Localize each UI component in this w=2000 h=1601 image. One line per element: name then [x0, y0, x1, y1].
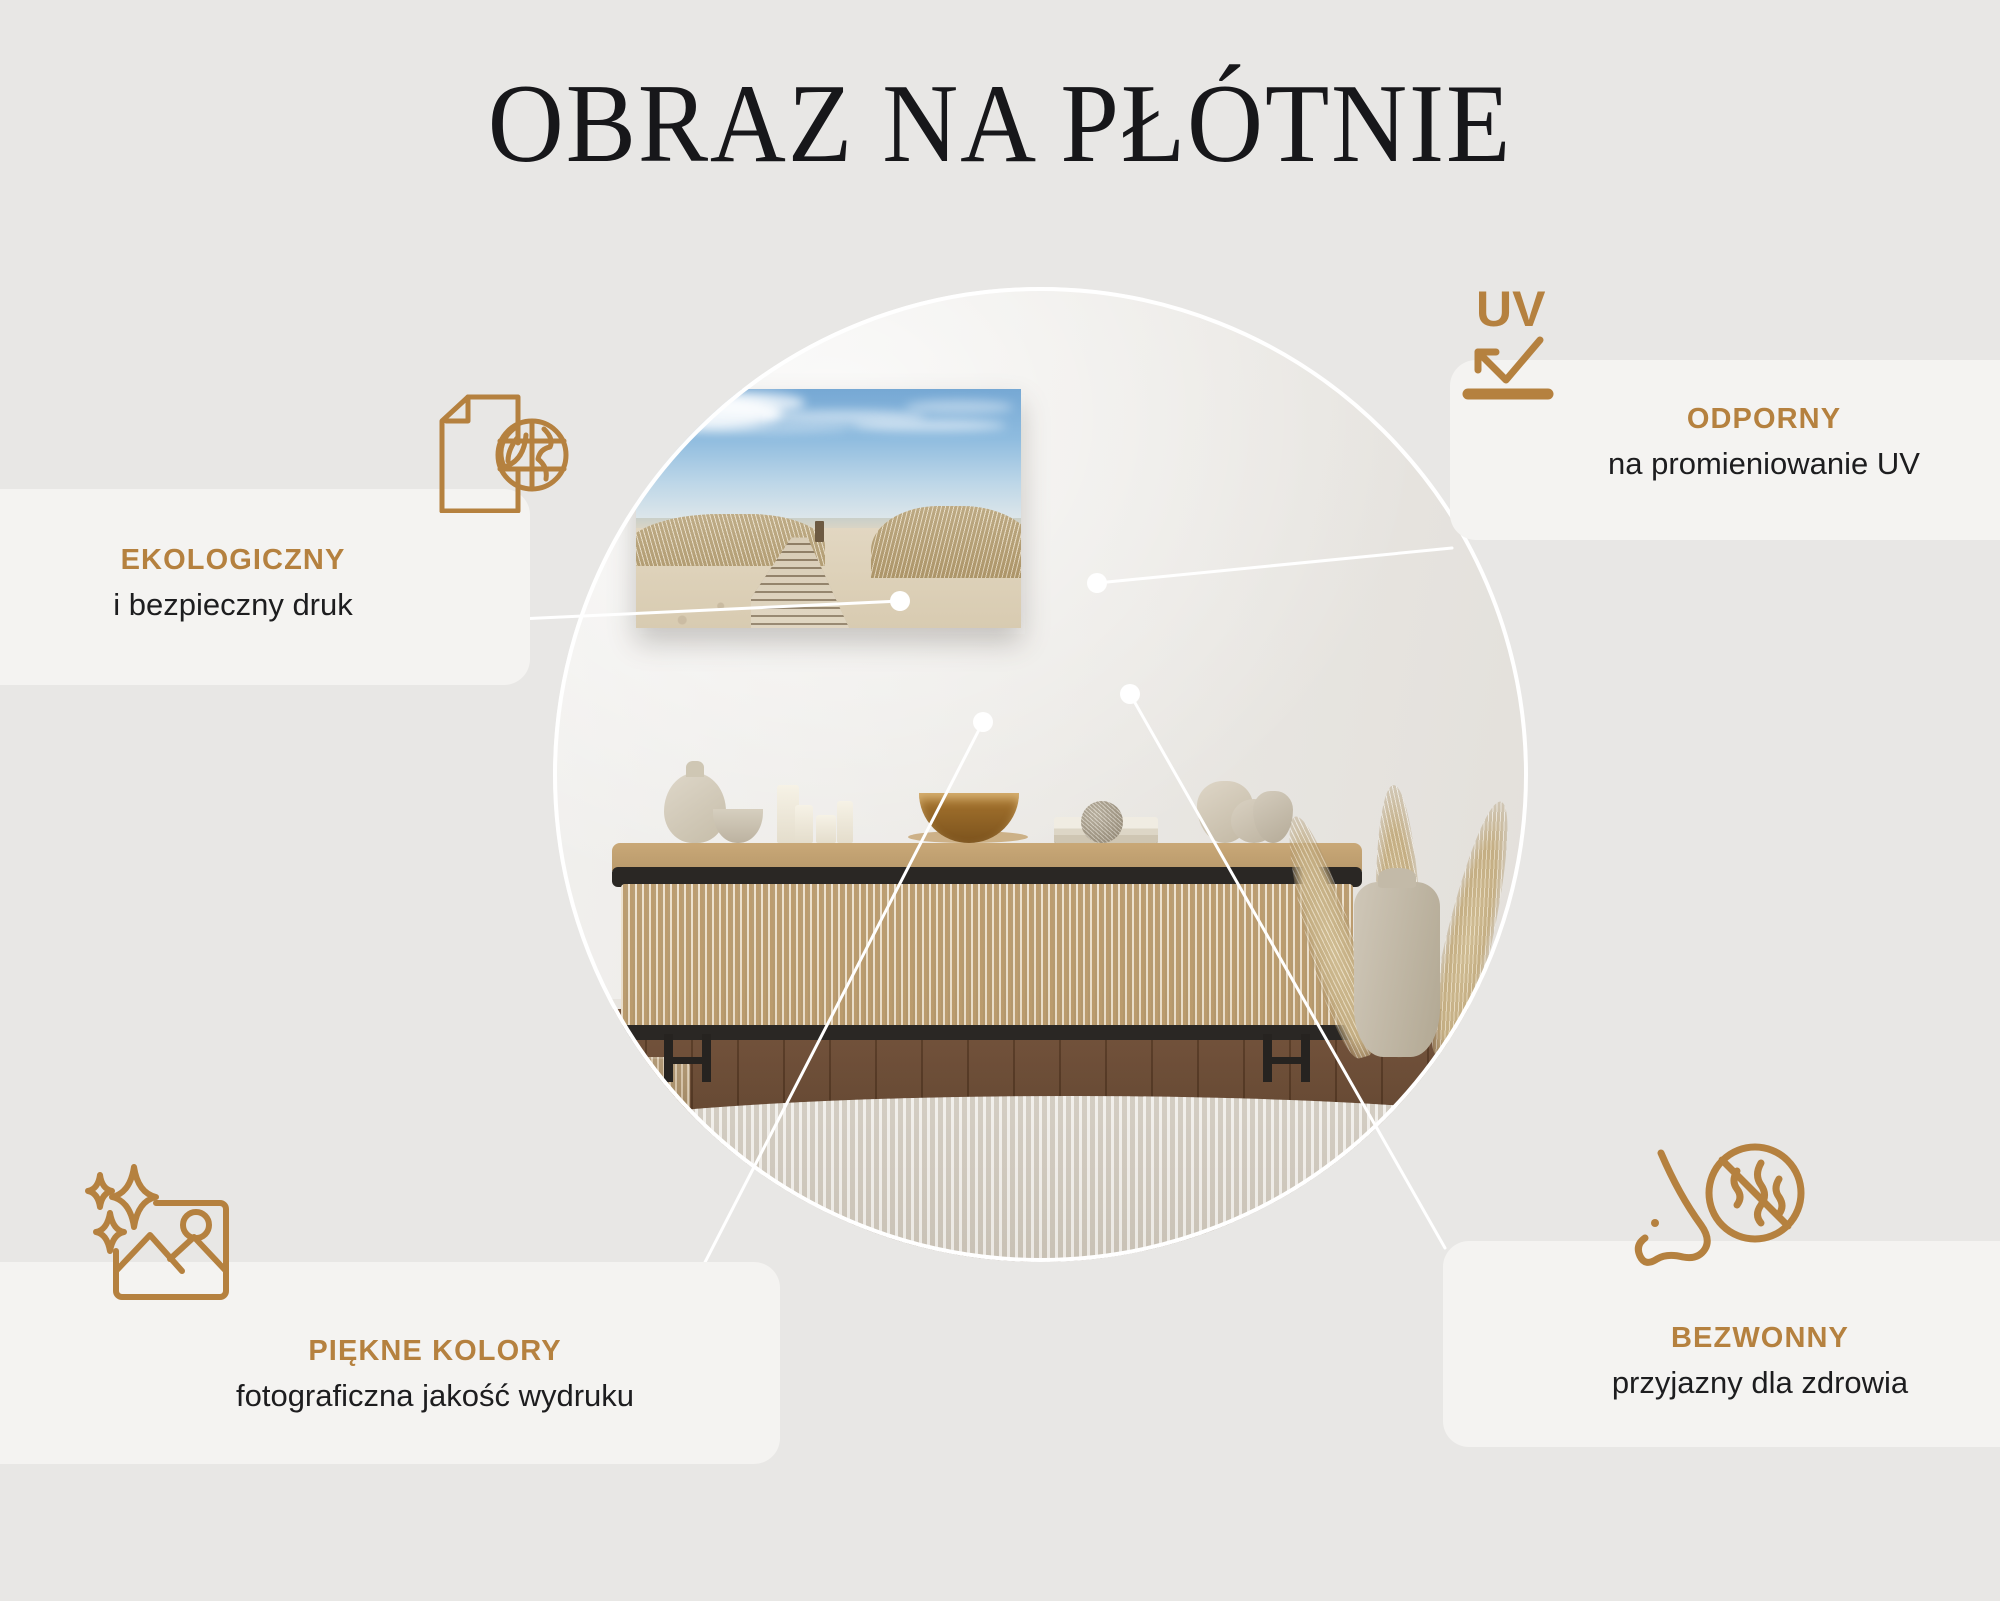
- beige-textured-rug: [553, 1096, 1528, 1262]
- uv-icon-label: UV: [1476, 284, 1546, 337]
- feature-sub-ekologiczny: i bezpieczny druk: [0, 585, 506, 626]
- feature-kicker-ekologiczny: EKOLOGICZNY: [0, 541, 506, 579]
- eco-document-globe-leaf-icon: [424, 393, 586, 513]
- feature-sub-odporny: na promieniowanie UV: [1478, 444, 2000, 485]
- sideboard-base: [612, 1025, 1363, 1040]
- page-title: OBRAZ NA PŁÓTNIE: [60, 66, 1940, 184]
- feature-kicker-kolory: PIĘKNE KOLORY: [90, 1332, 780, 1370]
- feature-sub-kolory: fotograficzna jakość wydruku: [90, 1376, 780, 1417]
- room-scene: [553, 287, 1528, 1262]
- artwork-sky: [636, 389, 1021, 520]
- photo-sparkle-icon: [78, 1153, 253, 1305]
- pillar-candle: [837, 801, 853, 843]
- feature-kicker-bezwonny: BEZWONNY: [1477, 1319, 2000, 1357]
- artwork-fence-post: [815, 521, 824, 542]
- artwork-dune-grass-right: [871, 506, 1021, 578]
- round-ceramic-vase: [664, 773, 726, 843]
- feature-sub-bezwonny: przyjazny dla zdrowia: [1477, 1363, 2000, 1404]
- infographic-stage: OBRAZ NA PŁÓTNIE: [0, 0, 2000, 1601]
- textured-decor-sphere: [1081, 801, 1123, 843]
- pillar-candle: [795, 805, 813, 843]
- feature-card-ekologiczny[interactable]: EKOLOGICZNY i bezpieczny druk: [0, 489, 530, 685]
- room-scene-clip: [553, 287, 1528, 1262]
- nose-no-odor-icon: [1633, 1135, 1813, 1290]
- fluted-wood-sideboard: [612, 843, 1363, 1062]
- pampas-grass-in-vase: [1354, 882, 1440, 1057]
- sideboard-fluted-doors: [621, 884, 1354, 1029]
- uv-reflection-icon: UV: [1462, 284, 1634, 414]
- beach-boardwalk-canvas-print: [636, 389, 1021, 628]
- pillar-candle: [816, 815, 836, 843]
